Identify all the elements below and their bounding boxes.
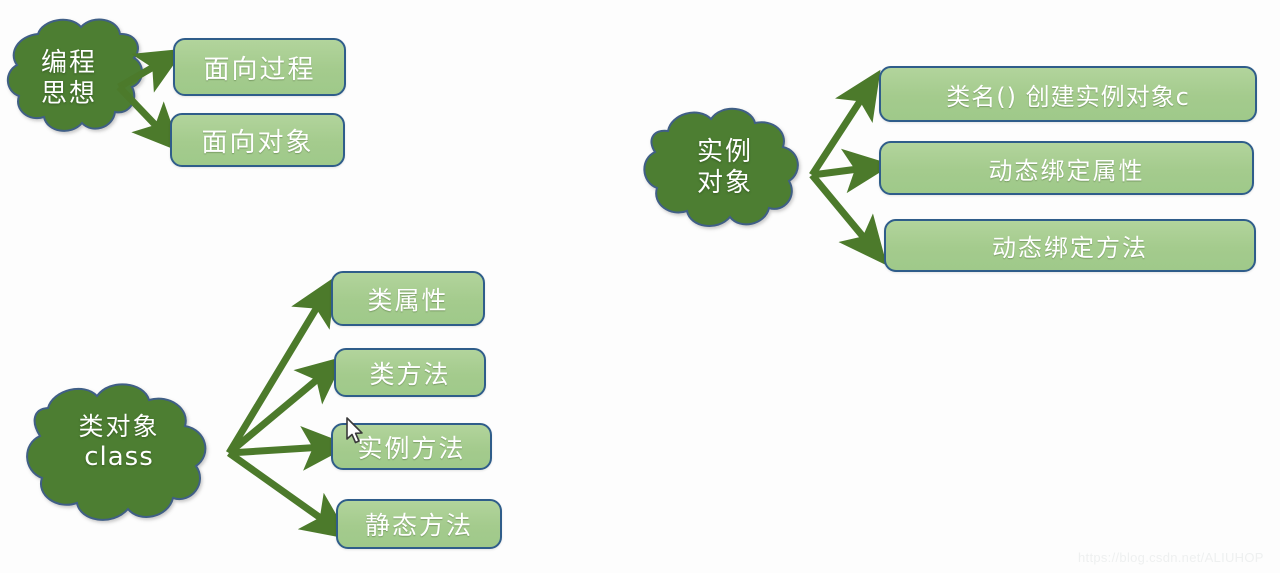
arrow-to-create-instance [812,92,866,175]
cloud-class-object [27,384,205,520]
node-static-method[interactable]: 静态方法 [336,499,502,549]
node-create-instance[interactable]: 类名() 创建实例对象c [879,66,1257,122]
diagram-canvas: 编程 思想 实例 对象 类对象 class 面向过程 面向对象 类名() 创建实… [0,0,1280,573]
arrow-to-static-method [229,453,329,524]
node-mianxiangguocheng[interactable]: 面向过程 [173,38,346,96]
node-dynamic-bind-attribute[interactable]: 动态绑定属性 [879,141,1254,195]
node-dynamic-bind-method[interactable]: 动态绑定方法 [884,219,1256,272]
node-mianxiangduixiang[interactable]: 面向对象 [170,113,345,167]
arrow-to-bind-attr [812,168,866,175]
arrow-to-class-method [229,373,325,453]
cloud-programming-thought [8,20,142,131]
arrow-to-bind-method [812,175,870,245]
arrow-to-class-attr [229,299,322,453]
arrows-instance-object [812,92,870,245]
node-class-method[interactable]: 类方法 [334,348,486,397]
arrow-to-instance-method [229,447,324,453]
cloud-instance-object [644,109,798,226]
node-instance-method[interactable]: 实例方法 [331,423,492,470]
node-class-attribute[interactable]: 类属性 [331,271,485,326]
arrows-class-object [229,299,329,524]
watermark-text: https://blog.csdn.net/ALIUHOP [1078,550,1264,565]
